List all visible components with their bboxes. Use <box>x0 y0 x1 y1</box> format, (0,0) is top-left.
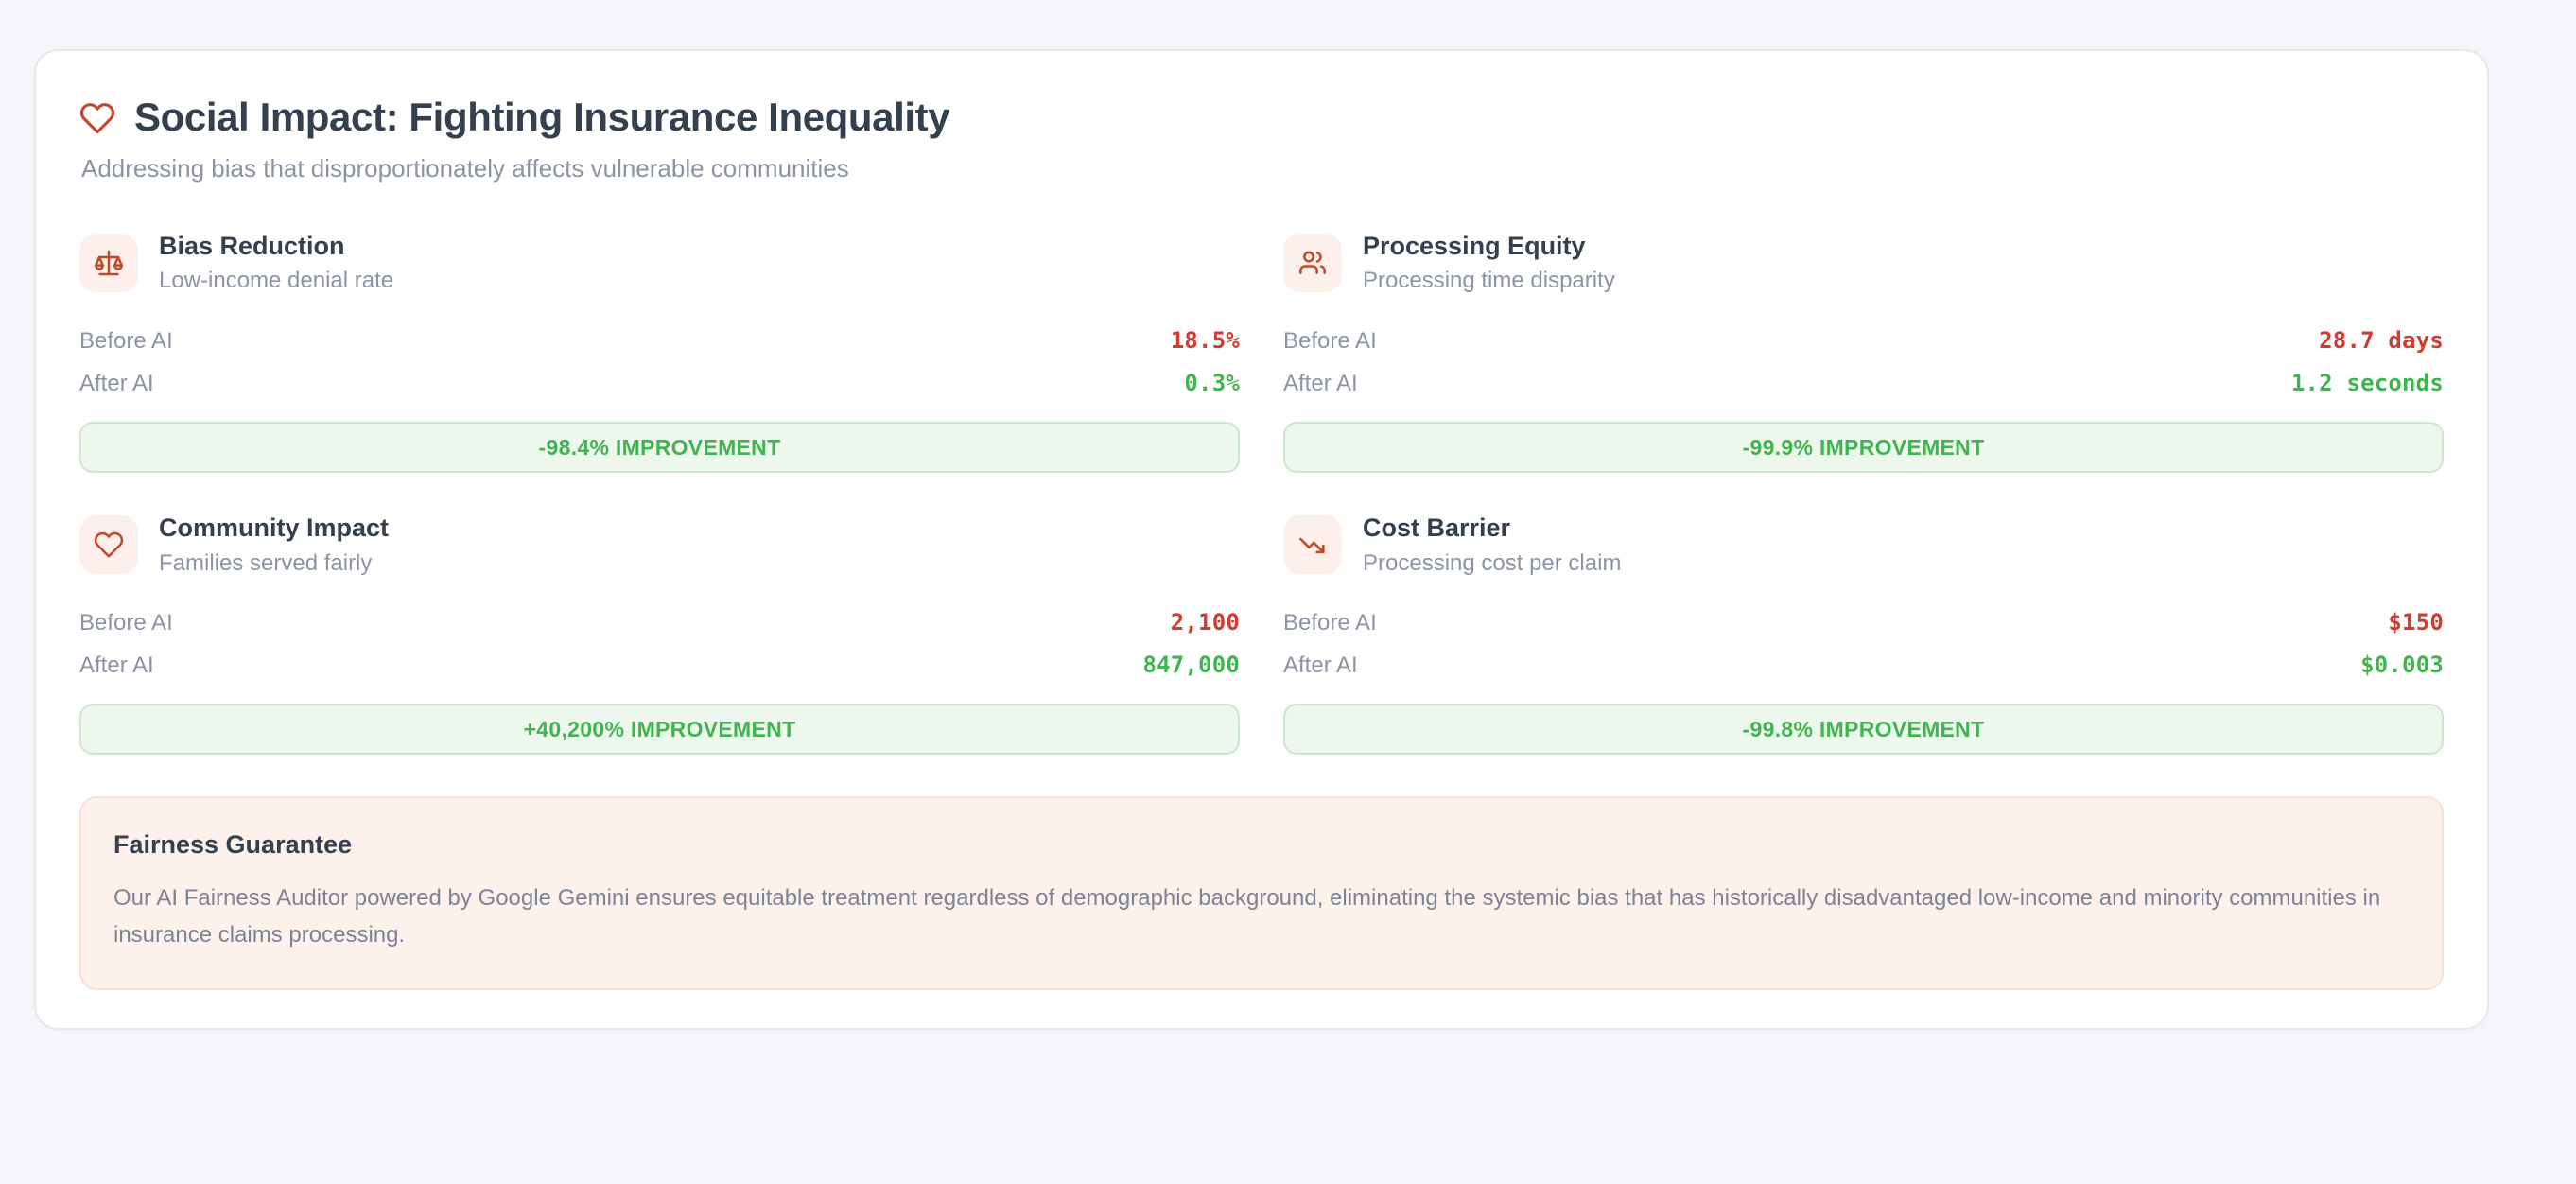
improvement-label: -99.8% IMPROVEMENT <box>1743 717 1985 742</box>
heart-icon <box>79 98 115 136</box>
metric-header: Processing Equity Processing time dispar… <box>1283 231 2444 295</box>
metric-sublabel: Processing time disparity <box>1363 268 1615 295</box>
metric-sublabel: Families served fairly <box>159 550 389 578</box>
metric-header: Community Impact Families served fairly <box>79 513 1240 577</box>
metric-row-label: Before AI <box>79 328 173 355</box>
improvement-label: -98.4% IMPROVEMENT <box>539 435 781 461</box>
metric-sublabel: Processing cost per claim <box>1363 550 1621 578</box>
metric-row-before: Before AI 18.5% <box>79 320 1240 362</box>
metric-value-before: 28.7 days <box>2319 327 2444 354</box>
metric-row-label: Before AI <box>79 610 173 636</box>
metric-label: Processing Equity <box>1363 231 1615 261</box>
metric-card-bias-reduction: Bias Reduction Low-income denial rate Be… <box>79 229 1240 473</box>
fairness-guarantee-callout: Fairness Guarantee Our AI Fairness Audit… <box>79 796 2444 990</box>
title-row: Social Impact: Fighting Insurance Inequa… <box>79 95 2444 140</box>
page-title: Social Impact: Fighting Insurance Inequa… <box>134 95 949 140</box>
metric-header: Bias Reduction Low-income denial rate <box>79 231 1240 295</box>
metric-title-block: Bias Reduction Low-income denial rate <box>159 231 393 295</box>
metric-row-label: After AI <box>79 371 154 397</box>
metric-value-before: 2,100 <box>1171 609 1240 636</box>
heart-icon <box>79 515 138 574</box>
metric-value-before: 18.5% <box>1171 327 1240 354</box>
metric-row-before: Before AI 28.7 days <box>1283 320 2444 362</box>
improvement-label: +40,200% IMPROVEMENT <box>524 717 796 742</box>
metric-sublabel: Low-income denial rate <box>159 268 393 295</box>
metric-row-label: After AI <box>1283 653 1358 679</box>
social-impact-panel: Social Impact: Fighting Insurance Inequa… <box>34 49 2489 1030</box>
metric-row-after: After AI 847,000 <box>79 644 1240 687</box>
scales-icon <box>79 234 138 292</box>
metric-card-processing-equity: Processing Equity Processing time dispar… <box>1283 229 2444 473</box>
metric-value-after: 847,000 <box>1142 652 1240 678</box>
fairness-guarantee-body: Our AI Fairness Auditor powered by Googl… <box>113 880 2383 954</box>
metric-row-label: Before AI <box>1283 610 1377 636</box>
metric-title-block: Cost Barrier Processing cost per claim <box>1363 513 1621 577</box>
page-background: Social Impact: Fighting Insurance Inequa… <box>0 0 2576 1184</box>
metric-card-community-impact: Community Impact Families served fairly … <box>79 511 1240 755</box>
metric-row-before: Before AI 2,100 <box>79 601 1240 644</box>
metric-value-before: $150 <box>2388 609 2444 636</box>
improvement-badge: -99.9% IMPROVEMENT <box>1283 422 2444 473</box>
improvement-badge: -98.4% IMPROVEMENT <box>79 422 1240 473</box>
users-icon <box>1283 234 1342 292</box>
fairness-guarantee-title: Fairness Guarantee <box>113 830 2410 860</box>
metric-title-block: Community Impact Families served fairly <box>159 513 389 577</box>
metric-row-after: After AI 1.2 seconds <box>1283 362 2444 405</box>
improvement-label: -99.9% IMPROVEMENT <box>1743 435 1985 461</box>
metric-label: Community Impact <box>159 513 389 543</box>
metric-label: Bias Reduction <box>159 231 393 261</box>
metric-row-before: Before AI $150 <box>1283 601 2444 644</box>
improvement-badge: -99.8% IMPROVEMENT <box>1283 704 2444 755</box>
metric-row-label: Before AI <box>1283 328 1377 355</box>
metric-row-after: After AI 0.3% <box>79 362 1240 405</box>
metric-value-after: 1.2 seconds <box>2291 370 2444 396</box>
metric-row-after: After AI $0.003 <box>1283 644 2444 687</box>
metric-header: Cost Barrier Processing cost per claim <box>1283 513 2444 577</box>
metric-value-after: $0.003 <box>2360 652 2444 678</box>
metric-value-after: 0.3% <box>1184 370 1240 396</box>
panel-subtitle: Addressing bias that disproportionately … <box>81 153 2444 185</box>
metric-row-label: After AI <box>1283 371 1358 397</box>
panel-header: Social Impact: Fighting Insurance Inequa… <box>79 95 2444 185</box>
metric-card-cost-barrier: Cost Barrier Processing cost per claim B… <box>1283 511 2444 755</box>
metric-row-label: After AI <box>79 653 154 679</box>
metric-label: Cost Barrier <box>1363 513 1621 543</box>
improvement-badge: +40,200% IMPROVEMENT <box>79 704 1240 755</box>
trending-down-icon <box>1283 515 1342 574</box>
metric-title-block: Processing Equity Processing time dispar… <box>1363 231 1615 295</box>
metrics-grid: Bias Reduction Low-income denial rate Be… <box>79 229 2444 755</box>
